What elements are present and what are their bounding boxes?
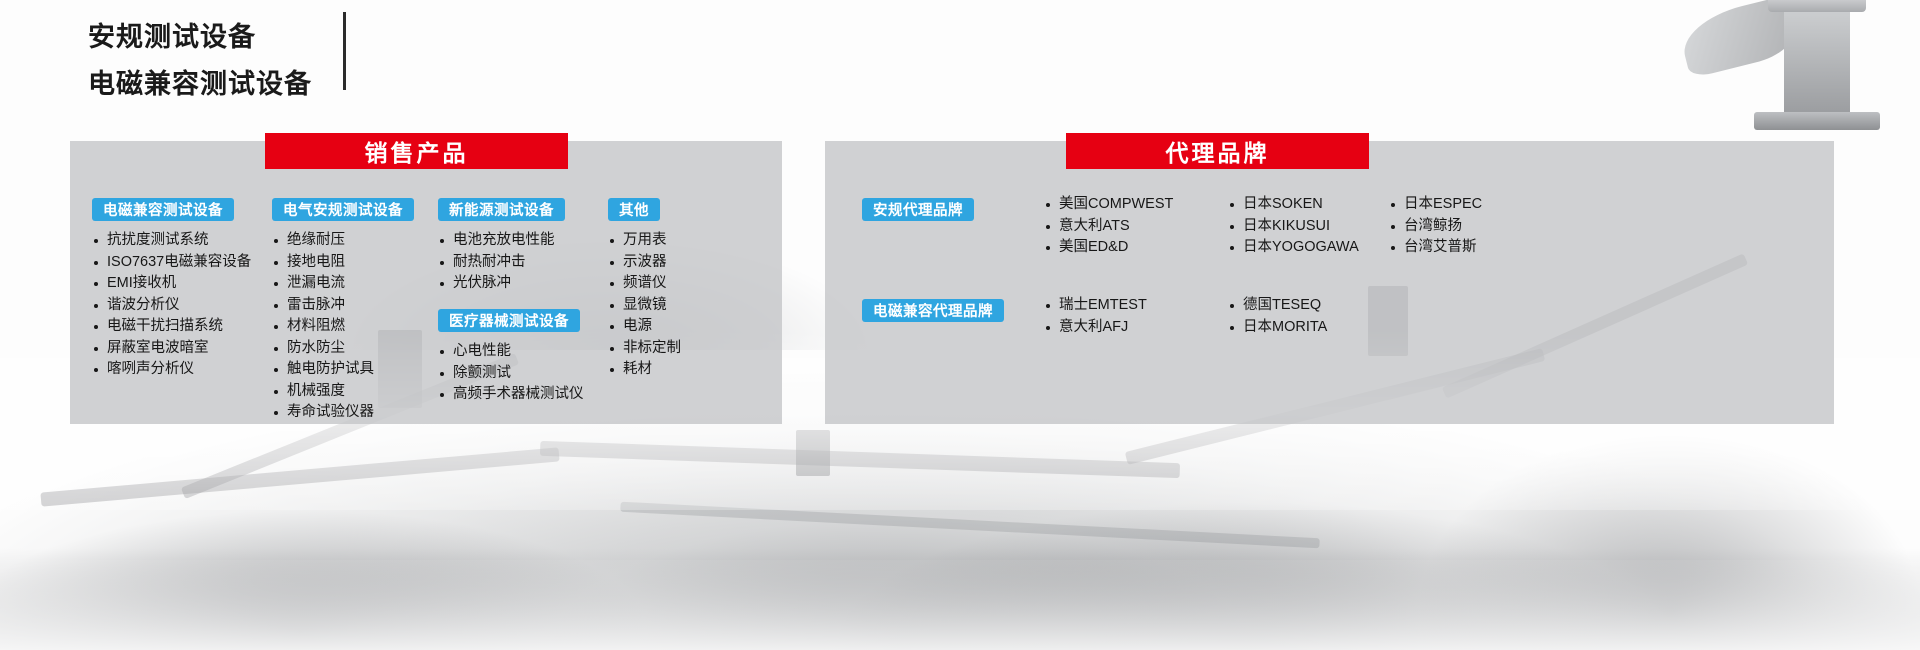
emc-brand-list-1: 瑞士EMTEST 意大利AFJ bbox=[1044, 295, 1147, 338]
electrical-safety-item-list: 绝缘耐压 接地电阻 泄漏电流 雷击脉冲 材料阻燃 防水防尘 触电防护试具 机械强… bbox=[272, 230, 414, 424]
list-item: 耐热耐冲击 bbox=[438, 252, 565, 274]
ornamental-wing bbox=[1677, 0, 1800, 79]
category-chip-electrical-safety: 电气安规测试设备 bbox=[272, 198, 414, 221]
safety-brand-column-1: 美国COMPWEST 意大利ATS 美国ED&D bbox=[1044, 194, 1173, 259]
list-item: 电磁干扰扫描系统 bbox=[92, 316, 251, 338]
list-item: 台湾鲸扬 bbox=[1389, 216, 1482, 238]
list-item: 接地电阻 bbox=[272, 252, 414, 274]
stone-pillar bbox=[1784, 0, 1850, 116]
safety-brand-list-1: 美国COMPWEST 意大利ATS 美国ED&D bbox=[1044, 194, 1173, 259]
list-item: 谐波分析仪 bbox=[92, 295, 251, 317]
emc-brand-column-2: 德国TESEQ 日本MORITA bbox=[1228, 295, 1327, 338]
category-electrical-safety-equipment: 电气安规测试设备 绝缘耐压 接地电阻 泄漏电流 雷击脉冲 材料阻燃 防水防尘 触… bbox=[272, 198, 414, 424]
category-medical-device-equipment: 医疗器械测试设备 心电性能 除颤测试 高频手术器械测试仪 bbox=[438, 309, 584, 406]
list-item: 德国TESEQ bbox=[1228, 295, 1327, 317]
list-item: 日本MORITA bbox=[1228, 317, 1327, 339]
category-emc-test-equipment: 电磁兼容测试设备 抗扰度测试系统 ISO7637电磁兼容设备 EMI接收机 谐波… bbox=[92, 198, 251, 381]
forest-layer bbox=[0, 530, 1920, 650]
list-item: 频谱仪 bbox=[608, 273, 681, 295]
fog-layer-bottom bbox=[0, 560, 1920, 650]
list-item: 非标定制 bbox=[608, 338, 681, 360]
list-item: 电池充放电性能 bbox=[438, 230, 565, 252]
list-item: 美国ED&D bbox=[1044, 237, 1173, 259]
agency-brands-banner: 代理品牌 bbox=[1066, 133, 1369, 169]
safety-brand-column-3: 日本ESPEC 台湾鲸扬 台湾艾普斯 bbox=[1389, 194, 1482, 259]
category-chip-other: 其他 bbox=[608, 198, 660, 221]
emc-brand-list-2: 德国TESEQ 日本MORITA bbox=[1228, 295, 1327, 338]
page-title-line-2: 电磁兼容测试设备 bbox=[88, 61, 312, 108]
category-other-equipment: 其他 万用表 示波器 频谱仪 显微镜 电源 非标定制 耗材 bbox=[608, 198, 681, 381]
list-item: 抗扰度测试系统 bbox=[92, 230, 251, 252]
list-item: 材料阻燃 bbox=[272, 316, 414, 338]
list-item: 寿命试验仪器 bbox=[272, 402, 414, 424]
great-wall-segment bbox=[540, 441, 1180, 478]
great-wall-segment bbox=[620, 502, 1320, 549]
list-item: 触电防护试具 bbox=[272, 359, 414, 381]
stone-pillar-cap bbox=[1768, 0, 1866, 12]
list-item: 美国COMPWEST bbox=[1044, 194, 1173, 216]
category-chip-emc: 电磁兼容测试设备 bbox=[92, 198, 234, 221]
agency-brands-panel bbox=[825, 141, 1834, 424]
great-wall-segment bbox=[40, 447, 559, 506]
page-title-line-1: 安规测试设备 bbox=[88, 14, 312, 61]
list-item: 除颤测试 bbox=[438, 363, 584, 385]
emc-item-list: 抗扰度测试系统 ISO7637电磁兼容设备 EMI接收机 谐波分析仪 电磁干扰扫… bbox=[92, 230, 251, 381]
list-item: 示波器 bbox=[608, 252, 681, 274]
safety-brand-list-3: 日本ESPEC 台湾鲸扬 台湾艾普斯 bbox=[1389, 194, 1482, 259]
safety-brand-column-2: 日本SOKEN 日本KIKUSUI 日本YOGOGAWA bbox=[1228, 194, 1359, 259]
category-chip-medical: 医疗器械测试设备 bbox=[438, 309, 580, 332]
category-new-energy-equipment: 新能源测试设备 电池充放电性能 耐热耐冲击 光伏脉冲 bbox=[438, 198, 565, 295]
list-item: 泄漏电流 bbox=[272, 273, 414, 295]
list-item: 万用表 bbox=[608, 230, 681, 252]
category-chip-emc-agency-brand: 电磁兼容代理品牌 bbox=[862, 299, 1004, 322]
list-item: 机械强度 bbox=[272, 381, 414, 403]
list-item: 日本SOKEN bbox=[1228, 194, 1359, 216]
list-item: EMI接收机 bbox=[92, 273, 251, 295]
list-item: 意大利ATS bbox=[1044, 216, 1173, 238]
safety-brand-list-2: 日本SOKEN 日本KIKUSUI 日本YOGOGAWA bbox=[1228, 194, 1359, 259]
list-item: 喀咧声分析仪 bbox=[92, 359, 251, 381]
list-item: 意大利AFJ bbox=[1044, 317, 1147, 339]
list-item: 心电性能 bbox=[438, 341, 584, 363]
list-item: 耗材 bbox=[608, 359, 681, 381]
sales-products-banner: 销售产品 bbox=[265, 133, 568, 169]
list-item: 日本KIKUSUI bbox=[1228, 216, 1359, 238]
list-item: 电源 bbox=[608, 316, 681, 338]
category-chip-safety-agency-brand: 安规代理品牌 bbox=[862, 198, 974, 221]
medical-item-list: 心电性能 除颤测试 高频手术器械测试仪 bbox=[438, 341, 584, 406]
list-item: 防水防尘 bbox=[272, 338, 414, 360]
list-item: 屏蔽室电波暗室 bbox=[92, 338, 251, 360]
other-item-list: 万用表 示波器 频谱仪 显微镜 电源 非标定制 耗材 bbox=[608, 230, 681, 381]
list-item: 日本ESPEC bbox=[1389, 194, 1482, 216]
list-item: 显微镜 bbox=[608, 295, 681, 317]
list-item: 光伏脉冲 bbox=[438, 273, 565, 295]
list-item: 日本YOGOGAWA bbox=[1228, 237, 1359, 259]
list-item: ISO7637电磁兼容设备 bbox=[92, 252, 251, 274]
page-header: 安规测试设备 电磁兼容测试设备 bbox=[88, 14, 312, 108]
list-item: 高频手术器械测试仪 bbox=[438, 384, 584, 406]
title-divider bbox=[343, 12, 346, 90]
emc-brand-column-1: 瑞士EMTEST 意大利AFJ bbox=[1044, 295, 1147, 338]
list-item: 瑞士EMTEST bbox=[1044, 295, 1147, 317]
stone-pillar-base bbox=[1754, 112, 1880, 130]
new-energy-item-list: 电池充放电性能 耐热耐冲击 光伏脉冲 bbox=[438, 230, 565, 295]
category-chip-new-energy: 新能源测试设备 bbox=[438, 198, 565, 221]
list-item: 台湾艾普斯 bbox=[1389, 237, 1482, 259]
list-item: 雷击脉冲 bbox=[272, 295, 414, 317]
watchtower bbox=[796, 430, 830, 476]
list-item: 绝缘耐压 bbox=[272, 230, 414, 252]
